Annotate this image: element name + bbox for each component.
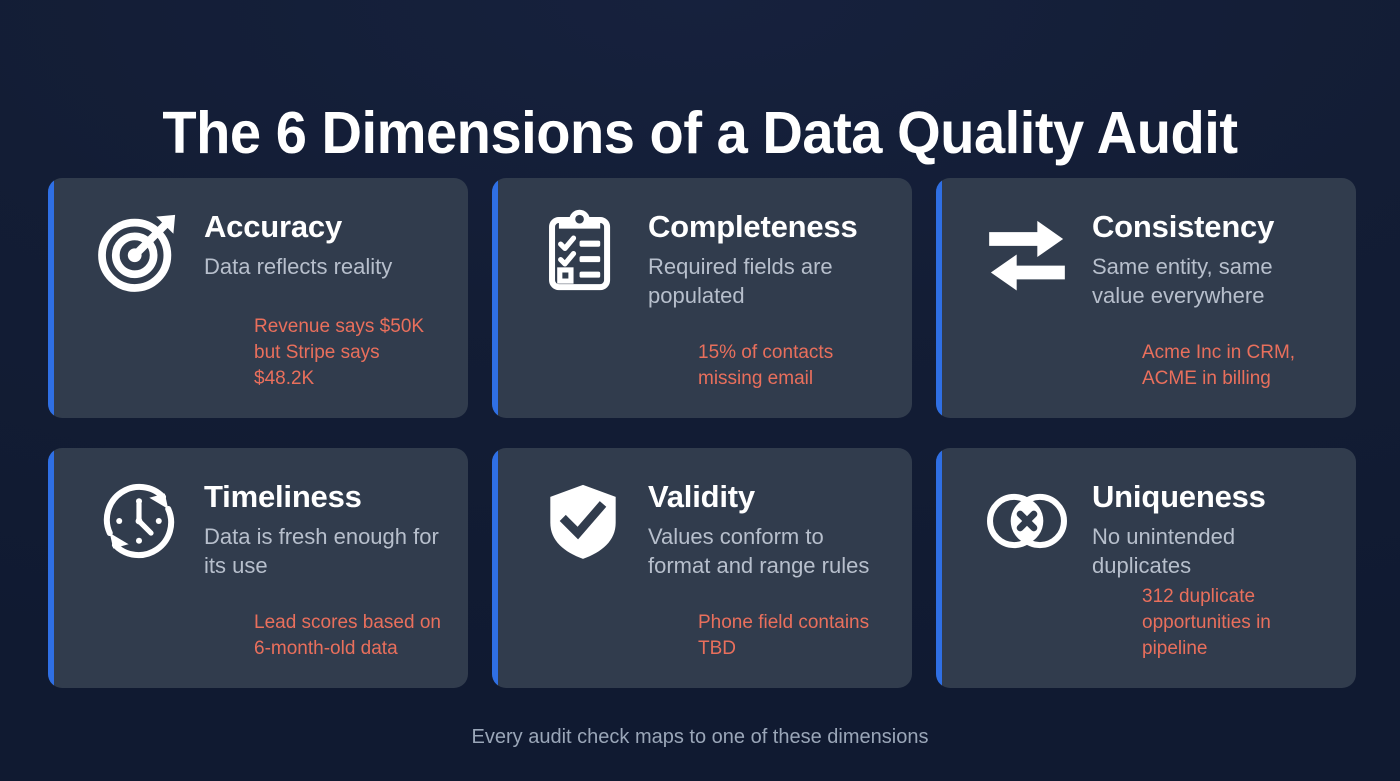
dimension-card-accuracy[interactable]: Accuracy Data reflects reality Revenue s… [48,178,468,418]
card-description: Same entity, same value everywhere [1092,252,1330,310]
footer-note: Every audit check maps to one of these d… [0,723,1400,751]
dimensions-grid: Accuracy Data reflects reality Revenue s… [48,178,1356,688]
dimension-card-uniqueness[interactable]: Uniqueness No unintended duplicates 312 … [936,448,1356,688]
clock-refresh-icon [96,478,182,564]
dimension-card-completeness[interactable]: Completeness Required fields are populat… [492,178,912,418]
card-header: Uniqueness No unintended duplicates [984,476,1330,580]
card-text-block: Completeness Required fields are populat… [648,206,886,310]
card-example: Acme Inc in CRM, ACME in billing [984,340,1330,396]
card-description: Data reflects reality [204,252,442,281]
card-title: Completeness [648,208,886,246]
card-text-block: Validity Values conform to format and ra… [648,476,886,580]
dimension-card-validity[interactable]: Validity Values conform to format and ra… [492,448,912,688]
page-title: The 6 Dimensions of a Data Quality Audit [35,97,1365,169]
card-title: Consistency [1092,208,1330,246]
dimension-card-consistency[interactable]: Consistency Same entity, same value ever… [936,178,1356,418]
card-title: Timeliness [204,478,442,516]
card-header: Completeness Required fields are populat… [540,206,886,310]
card-example: Lead scores based on 6-month-old data [96,610,442,666]
card-text-block: Uniqueness No unintended duplicates [1092,476,1330,580]
card-header: Validity Values conform to format and ra… [540,476,886,580]
shield-check-icon [540,478,626,564]
card-description: Data is fresh enough for its use [204,522,442,580]
card-header: Timeliness Data is fresh enough for its … [96,476,442,580]
clipboard-checklist-icon [540,208,626,294]
card-text-block: Timeliness Data is fresh enough for its … [204,476,442,580]
card-title: Uniqueness [1092,478,1330,516]
card-example: 312 duplicate opportunities in pipeline [984,584,1330,666]
card-example: Phone field contains TBD [540,610,886,666]
card-header: Consistency Same entity, same value ever… [984,206,1330,310]
card-title: Accuracy [204,208,442,246]
dimension-card-timeliness[interactable]: Timeliness Data is fresh enough for its … [48,448,468,688]
card-example: 15% of contacts missing email [540,340,886,396]
card-description: No unintended duplicates [1092,522,1330,580]
two-way-arrows-icon [984,208,1070,294]
card-description: Values conform to format and range rules [648,522,886,580]
card-text-block: Accuracy Data reflects reality [204,206,442,281]
card-example: Revenue says $50K but Stripe says $48.2K [96,314,442,396]
card-text-block: Consistency Same entity, same value ever… [1092,206,1330,310]
card-description: Required fields are populated [648,252,886,310]
card-header: Accuracy Data reflects reality [96,206,442,294]
venn-diagram-x-icon [984,478,1070,564]
infographic-poster: The 6 Dimensions of a Data Quality Audit… [0,0,1400,781]
target-bullseye-arrow-icon [96,208,182,294]
card-title: Validity [648,478,886,516]
